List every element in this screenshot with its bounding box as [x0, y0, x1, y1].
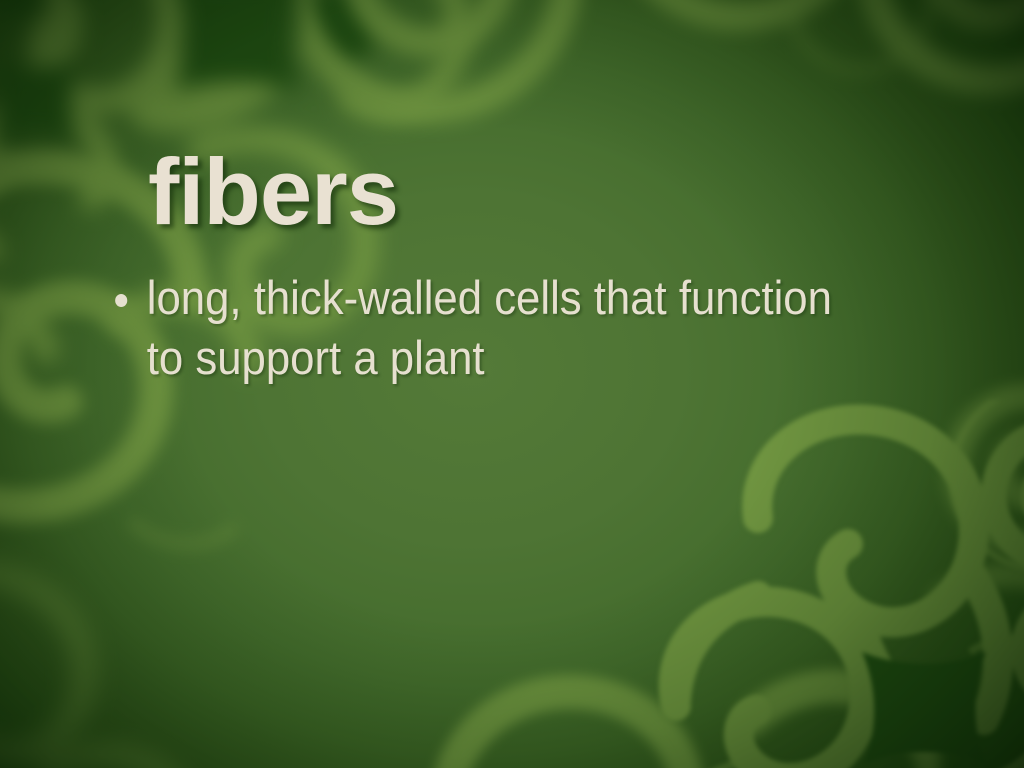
slide-content: fibers long, thick-walled cells that fun…	[0, 0, 1024, 768]
bullet-dot-icon	[115, 294, 127, 307]
bullet-item: long, thick-walled cells that function t…	[104, 268, 839, 387]
slide-title: fibers	[148, 145, 398, 239]
presentation-slide: fibers long, thick-walled cells that fun…	[0, 0, 1024, 768]
slide-bullet-list: long, thick-walled cells that function t…	[104, 268, 894, 387]
bullet-text: long, thick-walled cells that function t…	[147, 271, 832, 384]
